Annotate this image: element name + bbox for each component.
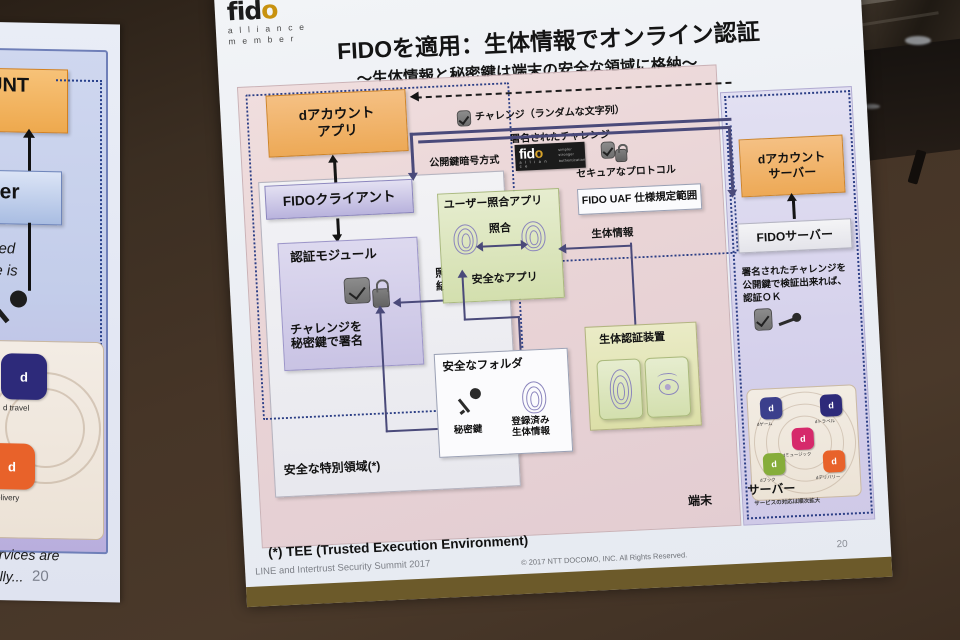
previous-page-number: 20 — [32, 568, 49, 585]
match-arrow-head-right — [521, 239, 529, 249]
previous-app-label-ddelivery: d delivery — [0, 493, 19, 503]
fido-client-box: FIDOクライアント — [264, 179, 414, 220]
server-verify-note: 署名されたチャレンジを 公開鍵で検証出来れば、 認証ＯＫ — [741, 263, 847, 306]
fido-server-box: FIDOサーバー — [737, 218, 852, 253]
fido-alliance-member-logo: fido a l l i a n c e m e m b e r — [226, 0, 325, 61]
app-icon-dmusic: d — [791, 427, 814, 450]
bio-info-arrow-head — [558, 244, 567, 254]
previous-server-label: ver — [0, 180, 20, 205]
app-label-dgame: dゲーム — [757, 421, 773, 428]
fido-server-to-account-head — [787, 193, 797, 201]
match-result-arrow-head — [393, 298, 402, 308]
client-to-server-head-1 — [408, 173, 418, 181]
previous-app-label-dtravel: d travel — [3, 403, 29, 413]
enrolled-bio-fingerprint-icon — [521, 381, 545, 412]
previous-caption-line-1: services are — [0, 546, 59, 563]
secure-app-arrow-head — [457, 269, 467, 277]
previous-slide-panel: UNT r ver eted ge is d d travel d d deli… — [0, 22, 120, 602]
app-icon-ddelivery: d — [822, 450, 845, 473]
bio-device-fingerprint-icon — [609, 369, 631, 408]
user-verify-fingerprint-left — [453, 224, 476, 253]
previous-caption-line-2: ually... — [0, 568, 23, 585]
bio-info-label: 生体情報 — [591, 227, 634, 242]
match-label: 照合 — [489, 222, 512, 236]
app-label-ddelivery: dデリバリー — [816, 474, 841, 481]
app-icon-dgame: d — [760, 397, 783, 420]
server-side-label: サーバー — [747, 481, 796, 498]
server-to-app-arrow-head — [409, 91, 419, 101]
previous-note-line-2: ge is — [0, 262, 18, 280]
previous-account-label: UNT — [0, 74, 29, 98]
app-icon-dbook: d — [763, 453, 786, 476]
previous-key-icon — [0, 290, 38, 313]
previous-app-grid: d d travel d d delivery — [0, 340, 104, 540]
server-public-key-icon — [778, 311, 805, 332]
app-label-dtravel: dトラベル — [815, 418, 835, 425]
app-icon-dtravel: d — [819, 394, 842, 417]
auth-module-check-icon — [343, 277, 370, 304]
match-arrow-head-left — [476, 242, 484, 252]
client-to-app-arrow-head — [328, 154, 338, 162]
photo-scene: UNT r ver eted ge is d d travel d d deli… — [0, 0, 960, 640]
event-footer: LINE and Intertrust Security Summit 2017 — [255, 558, 431, 577]
auth-module-body: チャレンジを 秘密鍵で署名 — [290, 319, 363, 351]
copyright-footer: © 2017 NTT DOCOMO, INC. All Rights Reser… — [521, 550, 688, 567]
previous-arrow-head — [23, 129, 35, 138]
private-key-label: 秘密鍵 — [454, 424, 483, 437]
previous-app-icon-dtravel: d — [1, 353, 47, 400]
private-key-to-module-head — [375, 305, 385, 313]
client-to-server-head-2 — [727, 190, 737, 198]
server-verify-check-icon — [754, 308, 773, 331]
private-key-icon — [458, 388, 490, 419]
challenge-check-icon — [457, 110, 472, 127]
main-slide: fido a l l i a n c e m e m b e r FIDOを適用… — [214, 0, 892, 607]
enrolled-bio-label: 登録済み 生体情報 — [511, 415, 550, 440]
previous-arrow-shaft — [28, 135, 31, 171]
terminal-side-label: 端末 — [688, 493, 713, 509]
previous-arrow-shaft-2 — [28, 223, 31, 291]
account-app-box: dアカウント アプリ — [265, 89, 408, 158]
bio-device-iris-icon — [655, 373, 680, 398]
slide-page-number: 20 — [836, 539, 848, 551]
account-server-box: dアカウント サーバー — [739, 135, 846, 198]
previous-app-icon-ddelivery: d — [0, 443, 35, 490]
ceiling-light — [905, 36, 931, 45]
previous-note-line-1: eted — [0, 240, 15, 258]
